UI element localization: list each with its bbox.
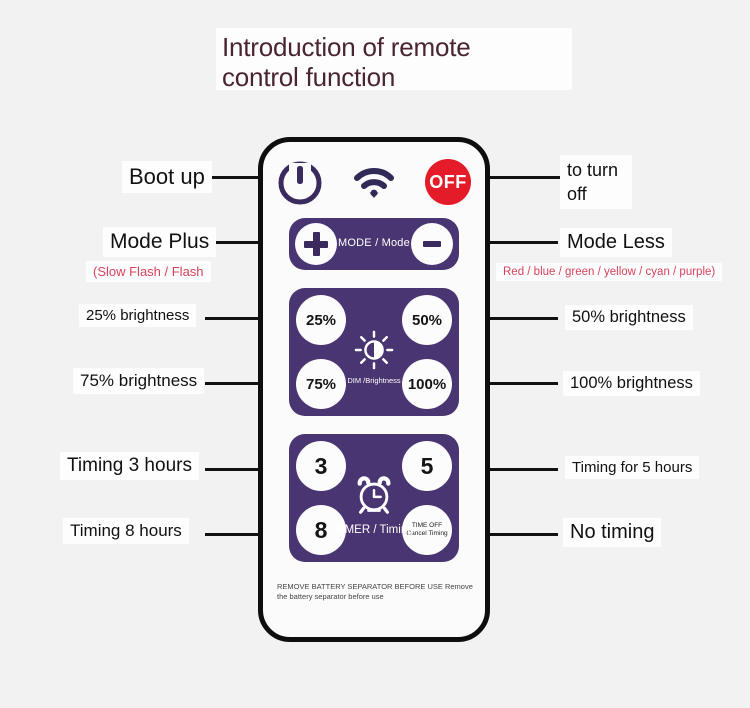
label-timing-5-hours: Timing for 5 hours bbox=[565, 456, 699, 479]
battery-separator-note: REMOVE BATTERY SEPARATOR BEFORE USE Remo… bbox=[277, 582, 473, 602]
label-turn-off-line-1: to turn bbox=[567, 160, 618, 180]
label-brightness-100: 100% brightness bbox=[563, 371, 700, 396]
off-button[interactable]: OFF bbox=[425, 159, 471, 205]
minus-icon bbox=[423, 241, 441, 247]
label-brightness-50: 50% brightness bbox=[565, 305, 693, 330]
brightness-panel: 25% 50% 75% 100% DIM /Brightness bbox=[289, 288, 459, 416]
remote-control-body: OFF MODE / Mode 25% 50% 75% 100% bbox=[258, 137, 490, 642]
mode-minus-button[interactable] bbox=[411, 223, 453, 265]
timer-panel: 3 5 8 TIME OFF Cancel Timing TIMER / Tim… bbox=[289, 434, 459, 562]
page-title-line-2: control function bbox=[222, 62, 566, 92]
brightness-sun-icon bbox=[289, 330, 459, 375]
label-mode-plus-sub: (Slow Flash / Flash bbox=[86, 261, 211, 282]
remote-top-row: OFF bbox=[263, 152, 485, 212]
label-turn-off-line-2: off bbox=[567, 184, 587, 204]
power-icon[interactable] bbox=[277, 159, 323, 205]
label-no-timing: No timing bbox=[563, 518, 661, 547]
label-brightness-25: 25% brightness bbox=[79, 304, 196, 327]
page-title: Introduction of remote control function bbox=[216, 28, 572, 90]
wifi-icon[interactable] bbox=[351, 162, 397, 202]
timer-panel-label: TIMER / Timing bbox=[289, 524, 459, 536]
label-boot-up: Boot up bbox=[122, 161, 212, 193]
alarm-clock-icon bbox=[289, 474, 459, 521]
mode-panel: MODE / Mode bbox=[289, 218, 459, 270]
label-timing-3-hours: Timing 3 hours bbox=[60, 452, 199, 480]
label-turn-off: to turn off bbox=[560, 155, 632, 209]
connector-turn-off bbox=[478, 176, 560, 179]
brightness-panel-label: DIM /Brightness bbox=[289, 376, 459, 385]
label-timing-8-hours: Timing 8 hours bbox=[63, 518, 189, 544]
label-mode-plus: Mode Plus bbox=[103, 227, 216, 257]
page-title-line-1: Introduction of remote bbox=[222, 32, 566, 62]
label-mode-less: Mode Less bbox=[560, 228, 672, 257]
label-brightness-75: 75% brightness bbox=[73, 368, 204, 394]
label-mode-less-sub: Red / blue / green / yellow / cyan / pur… bbox=[496, 263, 722, 281]
